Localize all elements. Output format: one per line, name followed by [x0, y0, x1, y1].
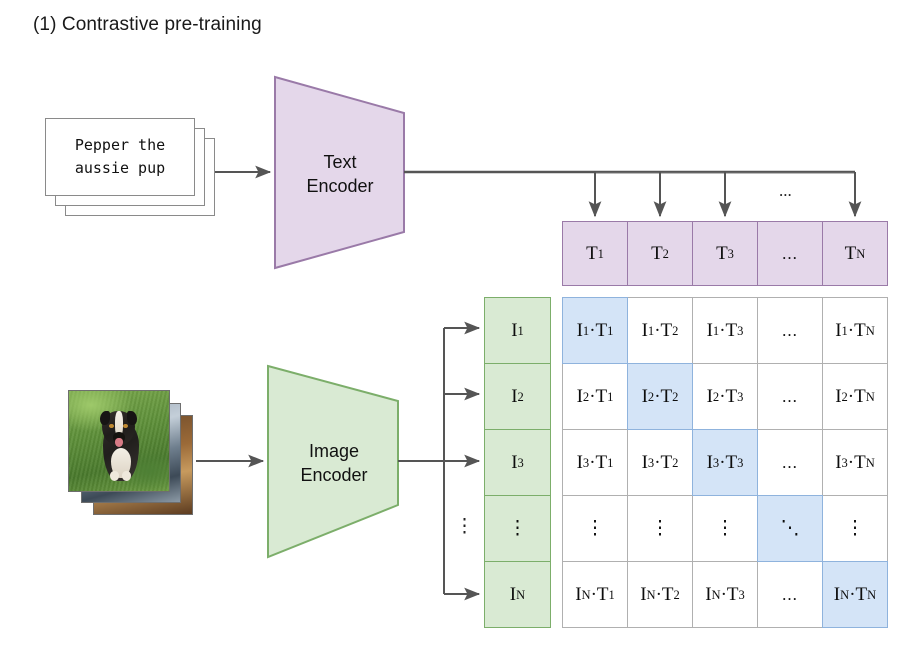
text-embedding-cell-ellipsis[interactable]: ...	[757, 221, 823, 286]
image-branch-ellipsis: ⋮	[455, 515, 474, 538]
text-embedding-cell-t1[interactable]: T1	[562, 221, 628, 286]
dog-tongue-shape	[115, 438, 123, 447]
similarity-cell[interactable]: IN·T2	[627, 561, 693, 628]
similarity-cell[interactable]: IN·TN	[822, 561, 888, 628]
text-embedding-cell-t3[interactable]: T3	[692, 221, 758, 286]
similarity-cell[interactable]: I3·T3	[692, 429, 758, 496]
similarity-cell[interactable]: I3·T2	[627, 429, 693, 496]
dog-eye-right-shape	[123, 424, 128, 428]
diagram-canvas: (1) Contrastive pre-training	[0, 0, 906, 654]
similarity-cell[interactable]: IN·T3	[692, 561, 758, 628]
text-bus-ellipsis: ...	[779, 181, 792, 201]
similarity-cell[interactable]: I1·T1	[562, 297, 628, 364]
dog-eye-left-shape	[109, 424, 114, 428]
similarity-cell[interactable]: ⋮	[562, 495, 628, 562]
similarity-cell[interactable]: I3·T1	[562, 429, 628, 496]
text-embedding-cell-tn[interactable]: TN	[822, 221, 888, 286]
image-embedding-cell-ellipsis[interactable]: ⋮	[484, 495, 551, 562]
similarity-cell[interactable]: IN·T1	[562, 561, 628, 628]
photo-card-stack[interactable]	[68, 390, 203, 525]
caption-text: Pepper theaussie pup	[75, 134, 165, 181]
image-embedding-cell-i1[interactable]: I1	[484, 297, 551, 364]
similarity-cell[interactable]: I1·TN	[822, 297, 888, 364]
similarity-cell[interactable]: ...	[757, 363, 823, 430]
similarity-cell[interactable]: I1·T2	[627, 297, 693, 364]
similarity-cell[interactable]: ⋮	[692, 495, 758, 562]
caption-card-front[interactable]: Pepper theaussie pup	[45, 118, 195, 196]
image-embedding-cell-i2[interactable]: I2	[484, 363, 551, 430]
photo-card-front[interactable]	[68, 390, 170, 492]
dog-ear-right-shape	[127, 411, 137, 425]
caption-line-2: aussie pup	[75, 159, 165, 177]
similarity-cell[interactable]: ⋮	[627, 495, 693, 562]
caption-card-stack[interactable]: Pepper theaussie pup	[45, 118, 220, 228]
similarity-cell[interactable]: I3·TN	[822, 429, 888, 496]
image-embedding-cell-i3[interactable]: I3	[484, 429, 551, 496]
similarity-cell[interactable]: ...	[757, 429, 823, 496]
similarity-cell[interactable]: I1·T3	[692, 297, 758, 364]
dog-paw-left-shape	[110, 471, 119, 481]
similarity-cell[interactable]: ⋱	[757, 495, 823, 562]
text-encoder-label: Text Encoder	[285, 150, 395, 199]
caption-line-1: Pepper the	[75, 136, 165, 154]
image-embedding-cell-in[interactable]: IN	[484, 561, 551, 628]
similarity-cell[interactable]: ⋮	[822, 495, 888, 562]
image-encoder-label: Image Encoder	[278, 439, 390, 488]
dog-ear-left-shape	[100, 411, 110, 425]
dog-paw-right-shape	[122, 471, 131, 481]
similarity-cell[interactable]: ...	[757, 297, 823, 364]
page-title: (1) Contrastive pre-training	[33, 14, 262, 36]
text-embedding-cell-t2[interactable]: T2	[627, 221, 693, 286]
similarity-cell[interactable]: I2·T1	[562, 363, 628, 430]
similarity-cell[interactable]: I2·T2	[627, 363, 693, 430]
similarity-cell[interactable]: I2·T3	[692, 363, 758, 430]
similarity-cell[interactable]: ...	[757, 561, 823, 628]
similarity-cell[interactable]: I2·TN	[822, 363, 888, 430]
